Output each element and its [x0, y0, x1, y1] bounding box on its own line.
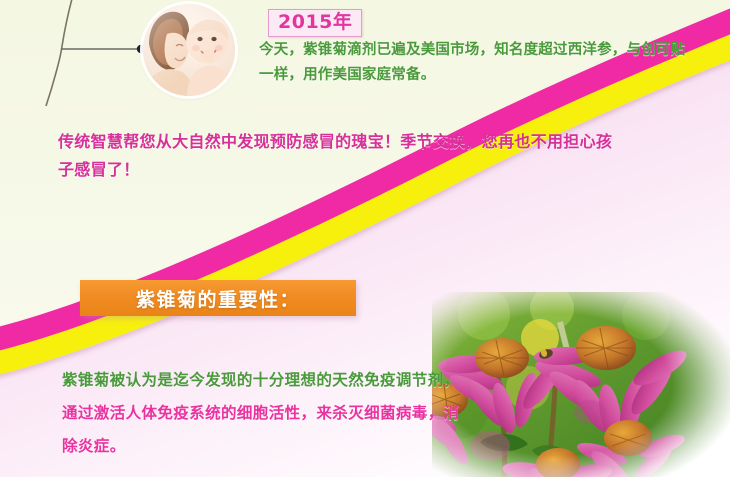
timeline-vertical-line: [46, 0, 73, 106]
promo-page: 2015年 今天，紫锥菊滴剂已遍及美国市场，知名度超过西洋参，与创可贴一样，用作…: [0, 0, 730, 477]
section-banner: 紫锥菊的重要性：: [80, 280, 356, 316]
section-banner-label: 紫锥菊的重要性：: [136, 285, 300, 312]
year-badge: 2015年: [268, 9, 362, 37]
body-paragraph: 紫锥菊被认为是迄今发现的十分理想的天然免疫调节剂，通过激活人体免疫系统的细胞活性…: [62, 364, 462, 463]
intro-paragraph: 今天，紫锥菊滴剂已遍及美国市场，知名度超过西洋参，与创可贴一样，用作美国家庭常备…: [259, 38, 699, 88]
body-paragraph-pink: 通过激活人体免疫系统的细胞活性，来杀灭细菌病毒，消除炎症。: [62, 404, 460, 455]
body-paragraph-green: 紫锥菊被认为是迄今发现的十分理想的天然免疫调节剂，: [62, 371, 460, 389]
highlight-paragraph: 传统智慧帮您从大自然中发现预防感冒的瑰宝！季节交换，您再也不用担心孩子感冒了！: [58, 128, 618, 184]
mother-baby-photo: [143, 4, 235, 96]
echinacea-photo: [432, 292, 730, 477]
